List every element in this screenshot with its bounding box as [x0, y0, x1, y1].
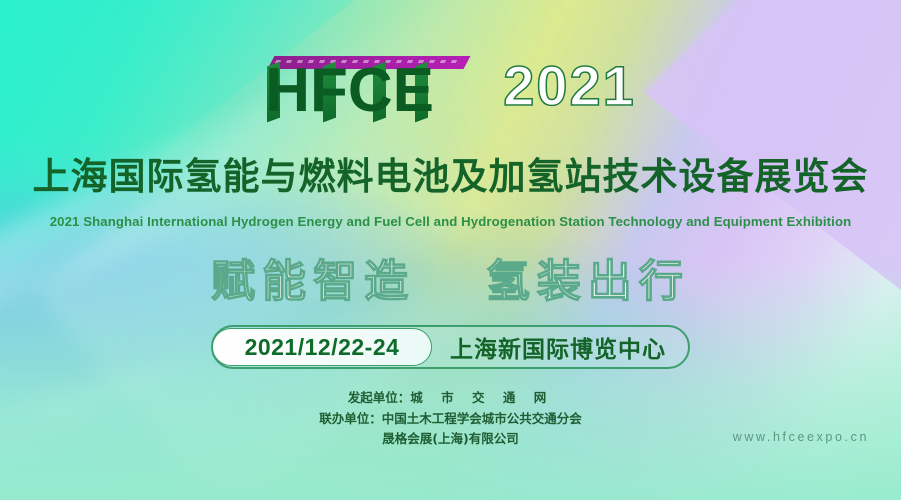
brand-lockup: H F C E 2021 — [0, 52, 901, 130]
organiser-initiator-line: 发起单位：城 市 交 通 网 — [0, 388, 901, 409]
event-venue: 上海新国际博览中心 — [432, 329, 688, 365]
organiser-coorganiser-label: 联办单位： — [319, 411, 382, 426]
website-url[interactable]: www.hfceexpo.cn — [733, 430, 869, 444]
event-info-pill: 2021/12/22-24 上海新国际博览中心 — [211, 325, 690, 369]
organiser-coorganiser-value: 中国土木工程学会城市公共交通分会 — [382, 411, 582, 426]
event-date: 2021/12/22-24 — [212, 328, 432, 366]
page-title-chinese: 上海国际氢能与燃料电池及加氢站技术设备展览会 — [0, 158, 901, 197]
poster-canvas: H F C E 2021 上海国际氢能与燃料电池及加氢站技术设备展览会 2021… — [0, 0, 901, 500]
event-info-bar: 2021/12/22-24 上海新国际博览中心 — [0, 325, 901, 369]
logo-letter-f: F — [310, 60, 348, 122]
logo-letter-e: E — [393, 60, 434, 122]
organiser-coorganiser-line: 联办单位：中国土木工程学会城市公共交通分会 — [0, 409, 901, 430]
slogan-part-2: 氢装出行 — [486, 256, 690, 307]
organiser-initiator-value: 城 市 交 通 网 — [410, 390, 553, 405]
poster-content: H F C E 2021 上海国际氢能与燃料电池及加氢站技术设备展览会 2021… — [0, 0, 901, 500]
page-title-english: 2021 Shanghai International Hydrogen Ene… — [0, 214, 901, 229]
organiser-initiator-label: 发起单位： — [348, 390, 411, 405]
slogan: 赋能智造 氢装出行 — [0, 258, 901, 306]
logo-letter-c: C — [348, 60, 393, 122]
hfce-logo: H F C E — [265, 52, 475, 130]
logo-letter-h: H — [265, 60, 310, 122]
logo-letters: H F C E — [265, 60, 475, 130]
edition-year: 2021 — [503, 58, 636, 114]
slogan-part-1: 赋能智造 — [211, 256, 415, 307]
